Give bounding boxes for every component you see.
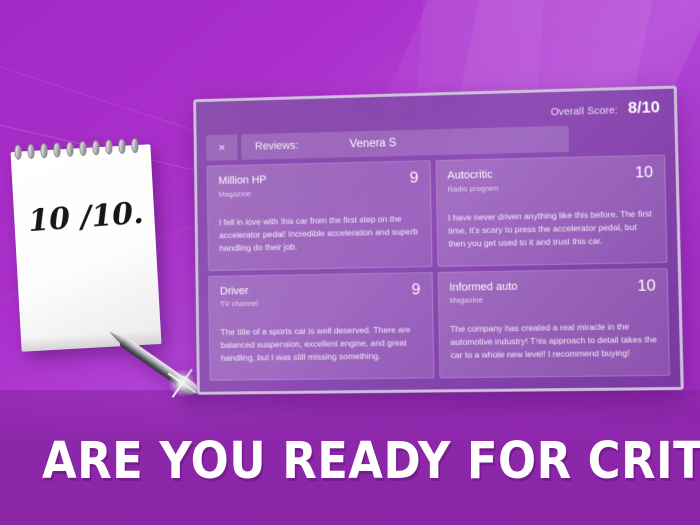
review-card[interactable]: Informed auto Magazine 10 The company ha…	[437, 267, 670, 378]
promo-screen: 10 /10. Overall Score: 8/10 ×	[0, 0, 700, 525]
review-source-type: Radio program	[447, 183, 498, 193]
review-source-type: TV channel	[220, 299, 258, 309]
review-source-type: Magazine	[449, 295, 517, 305]
overall-score-value: 8/10	[628, 99, 660, 118]
overall-score-row: Overall Score: 8/10	[206, 97, 664, 131]
review-card-grid: Million HP Magazine 9 I fell in love wit…	[207, 155, 670, 381]
review-card[interactable]: Driver TV channel 9 The title of a sport…	[208, 272, 434, 381]
reviews-panel: Overall Score: 8/10 × Reviews: Venera S	[193, 86, 684, 395]
panel-frame: Overall Score: 8/10 × Reviews: Venera S	[193, 86, 684, 395]
review-source: Million HP	[218, 174, 266, 188]
review-body: The title of a sports car is well deserv…	[220, 323, 421, 365]
overall-score-box: Overall Score: 8/10	[551, 99, 660, 120]
review-card[interactable]: Autocritic Radio program 10 I have never…	[435, 155, 667, 267]
review-card[interactable]: Million HP Magazine 9 I fell in love wit…	[207, 160, 432, 270]
overall-score-label: Overall Score:	[551, 105, 618, 118]
reviews-car-name: Venera S	[350, 137, 397, 150]
reviews-label: Reviews:	[255, 140, 299, 153]
tab-reviews[interactable]: Reviews: Venera S	[241, 126, 569, 160]
review-score: 10	[637, 278, 656, 295]
review-score: 10	[635, 165, 654, 182]
notepad-illustration: 10 /10.	[11, 144, 162, 352]
review-source: Informed auto	[449, 280, 517, 294]
close-icon: ×	[218, 141, 225, 155]
review-source: Driver	[220, 284, 258, 297]
page-title: ARE YOU READY FOR CRITICISM?	[42, 432, 658, 491]
review-score: 9	[409, 170, 418, 186]
review-source-type: Magazine	[219, 189, 267, 199]
close-button[interactable]: ×	[206, 134, 237, 160]
review-source: Autocritic	[447, 169, 498, 183]
review-body: The company has created a real miracle i…	[450, 320, 657, 362]
review-body: I fell in love with this car from the fi…	[219, 212, 420, 255]
review-body: I have never driven anything like this b…	[448, 207, 655, 251]
review-score: 9	[411, 282, 420, 298]
notepad-sheet	[11, 144, 162, 352]
